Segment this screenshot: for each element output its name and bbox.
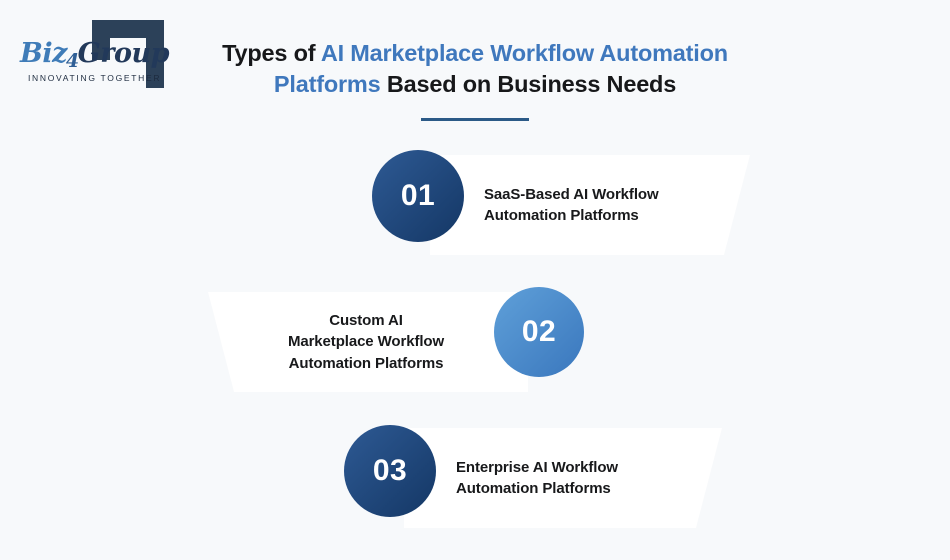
item-label-line2: Automation Platforms [484, 205, 706, 226]
title-underline-accent [421, 118, 529, 121]
item-label-line2: Automation Platforms [456, 478, 678, 499]
logo-text-group: Group [78, 38, 169, 69]
item-number: 01 [401, 179, 435, 213]
heading-block: Types of AI Marketplace Workflow Automat… [190, 38, 760, 121]
list-item[interactable]: Custom AI Marketplace Workflow Automatio… [208, 292, 528, 392]
item-number-badge: 03 [344, 425, 436, 517]
item-number-badge: 01 [372, 150, 464, 242]
page-title: Types of AI Marketplace Workflow Automat… [190, 38, 760, 100]
title-suffix: Based on Business Needs [381, 71, 677, 97]
item-number: 03 [373, 454, 407, 488]
title-accent-line1: AI Marketplace Workflow Automation [321, 40, 728, 66]
logo-text-biz: Biz [20, 38, 67, 69]
item-label: SaaS-Based AI Workflow Automation Platfo… [484, 155, 706, 255]
title-accent-line2: Platforms [274, 71, 381, 97]
list-item[interactable]: Enterprise AI Workflow Automation Platfo… [404, 428, 722, 528]
item-label-line2: Marketplace Workflow [252, 331, 480, 352]
item-number-badge: 02 [494, 287, 584, 377]
item-number: 02 [522, 315, 556, 349]
logo-tagline: INNOVATING TOGETHER [28, 73, 161, 83]
item-label: Enterprise AI Workflow Automation Platfo… [456, 428, 678, 528]
title-prefix: Types of [222, 40, 321, 66]
item-label: Custom AI Marketplace Workflow Automatio… [252, 292, 480, 392]
item-label-line1: Enterprise AI Workflow [456, 457, 678, 478]
item-label-line3: Automation Platforms [252, 353, 480, 374]
item-label-line1: Custom AI [252, 310, 480, 331]
brand-logo[interactable]: Biz4Group INNOVATING TOGETHER [18, 18, 178, 90]
logo-wordmark: Biz4Group [20, 40, 160, 71]
item-label-line1: SaaS-Based AI Workflow [484, 184, 706, 205]
list-item[interactable]: SaaS-Based AI Workflow Automation Platfo… [430, 155, 750, 255]
